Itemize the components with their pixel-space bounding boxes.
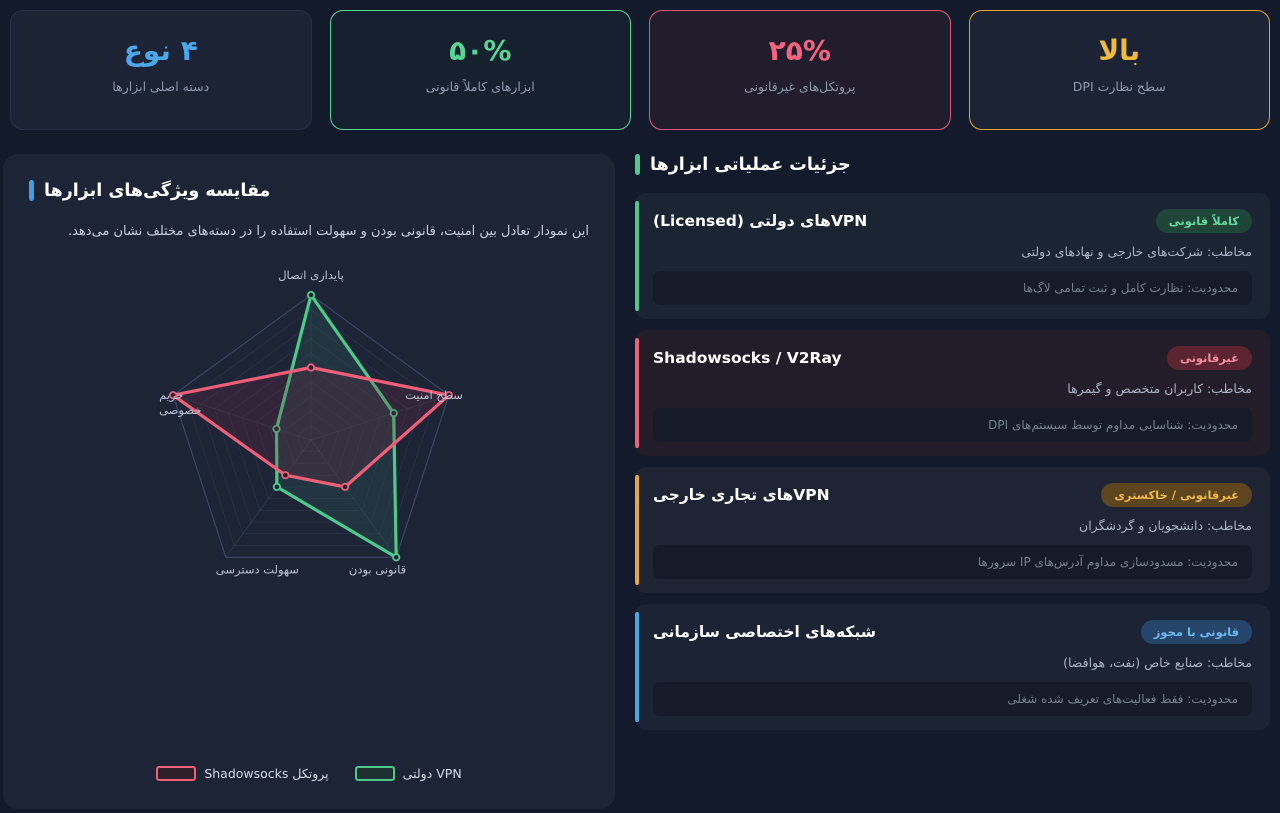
kpi-label: سطح نظارت DPI [1073,79,1166,94]
tools-title-text: جزئیات عملیاتی ابزارها [650,155,851,175]
tool-audience: مخاطب: کاربران متخصص و گیمرها [653,381,1252,396]
legend-item-government-vpn[interactable]: VPN دولتی [355,766,462,781]
tool-audience: مخاطب: صنایع خاص (نفت، هوافضا) [653,655,1252,670]
chart-title-text: مقایسه ویژگی‌های ابزارها [44,181,270,201]
tool-name: شبکه‌های اختصاصی سازمانی [653,623,876,641]
tool-audience: مخاطب: شرکت‌های خارجی و نهادهای دولتی [653,244,1252,259]
tool-header: غیرقانونی Shadowsocks / V2Ray [653,346,1252,370]
legend-item-shadowsocks[interactable]: پروتکل Shadowsocks [156,766,328,781]
tool-limitation: محدودیت: فقط فعالیت‌های تعریف شده شغلی [653,682,1252,716]
main-content: جزئیات عملیاتی ابزارها کاملاً قانونی VPN… [10,154,1270,809]
kpi-card-illegal-protocols: ۲۵% پروتکل‌های غیرقانونی [649,10,951,130]
kpi-label: پروتکل‌های غیرقانونی [744,79,855,94]
status-badge: غیرقانونی / خاکستری [1101,483,1252,507]
tool-card-shadowsocks[interactable]: غیرقانونی Shadowsocks / V2Ray مخاطب: کار… [635,330,1270,456]
kpi-card-dpi: بالا سطح نظارت DPI [969,10,1271,130]
tool-limitation: محدودیت: شناسایی مداوم توسط سیستم‌های DP… [653,408,1252,442]
kpi-row: بالا سطح نظارت DPI ۲۵% پروتکل‌های غیرقان… [10,10,1270,130]
radar-axis-label: سطح امنیت [405,389,463,403]
chart-description: این نمودار تعادل بین امنیت، قانونی بودن … [29,219,589,244]
dashboard-page: بالا سطح نظارت DPI ۲۵% پروتکل‌های غیرقان… [0,0,1280,813]
chart-section-title: مقایسه ویژگی‌های ابزارها [29,180,589,201]
tool-list: کاملاً قانونی VPNهای دولتی (Licensed) مخ… [635,193,1270,730]
radar-axis-label: قانونی بودن [349,563,406,578]
legend-label: پروتکل Shadowsocks [204,766,328,781]
status-badge: قانونی با مجوز [1141,620,1252,644]
kpi-label: دسته اصلی ابزارها [112,79,209,94]
legend-swatch-green-icon [355,766,395,781]
comparison-panel: مقایسه ویژگی‌های ابزارها این نمودار تعاد… [3,154,615,809]
tools-column: جزئیات عملیاتی ابزارها کاملاً قانونی VPN… [635,154,1270,809]
radar-axis-label: سهولت دسترسی [216,563,299,578]
kpi-value: ۴ نوع [124,37,198,65]
tools-section-title: جزئیات عملیاتی ابزارها [635,154,1270,175]
radar-chart: پایداری اتصالسطح امنیتقانونی بودنسهولت د… [29,248,589,764]
tool-card-enterprise-network[interactable]: قانونی با مجوز شبکه‌های اختصاصی سازمانی … [635,604,1270,730]
status-badge: غیرقانونی [1167,346,1252,370]
chart-legend: پروتکل Shadowsocks VPN دولتی [29,766,589,789]
tool-name: VPNهای تجاری خارجی [653,486,830,504]
radar-axis-label: حریم [159,389,183,404]
title-accent-bar [635,154,640,175]
tool-card-commercial-vpn[interactable]: غیرقانونی / خاکستری VPNهای تجاری خارجی م… [635,467,1270,593]
tool-limitation: محدودیت: نظارت کامل و ثبت تمامی لاگ‌ها [653,271,1252,305]
tool-limitation: محدودیت: مسدودسازی مداوم آدرس‌های IP سرو… [653,545,1252,579]
kpi-value: بالا [1098,37,1140,65]
radar-axis-label: پایداری اتصال [278,268,344,283]
tool-header: کاملاً قانونی VPNهای دولتی (Licensed) [653,209,1252,233]
tool-audience: مخاطب: دانشجویان و گردشگران [653,518,1252,533]
tool-header: غیرقانونی / خاکستری VPNهای تجاری خارجی [653,483,1252,507]
tool-header: قانونی با مجوز شبکه‌های اختصاصی سازمانی [653,620,1252,644]
kpi-label: ابزارهای کاملاً قانونی [426,79,535,94]
tool-name: VPNهای دولتی (Licensed) [653,212,867,230]
chart-column: مقایسه ویژگی‌های ابزارها این نمودار تعاد… [3,154,615,809]
kpi-card-legal-tools: ۵۰% ابزارهای کاملاً قانونی [330,10,632,130]
title-accent-bar [29,180,34,201]
radar-axis-label: خصوصی [159,404,201,419]
kpi-value: ۲۵% [769,37,831,65]
legend-swatch-red-icon [156,766,196,781]
tool-name: Shadowsocks / V2Ray [653,349,842,367]
tool-card-government-vpn[interactable]: کاملاً قانونی VPNهای دولتی (Licensed) مخ… [635,193,1270,319]
radar-chart-svg: پایداری اتصالسطح امنیتقانونی بودنسهولت د… [29,248,589,628]
kpi-card-categories: ۴ نوع دسته اصلی ابزارها [10,10,312,130]
kpi-value: ۵۰% [449,37,511,65]
status-badge: کاملاً قانونی [1156,209,1252,233]
legend-label: VPN دولتی [403,766,462,781]
